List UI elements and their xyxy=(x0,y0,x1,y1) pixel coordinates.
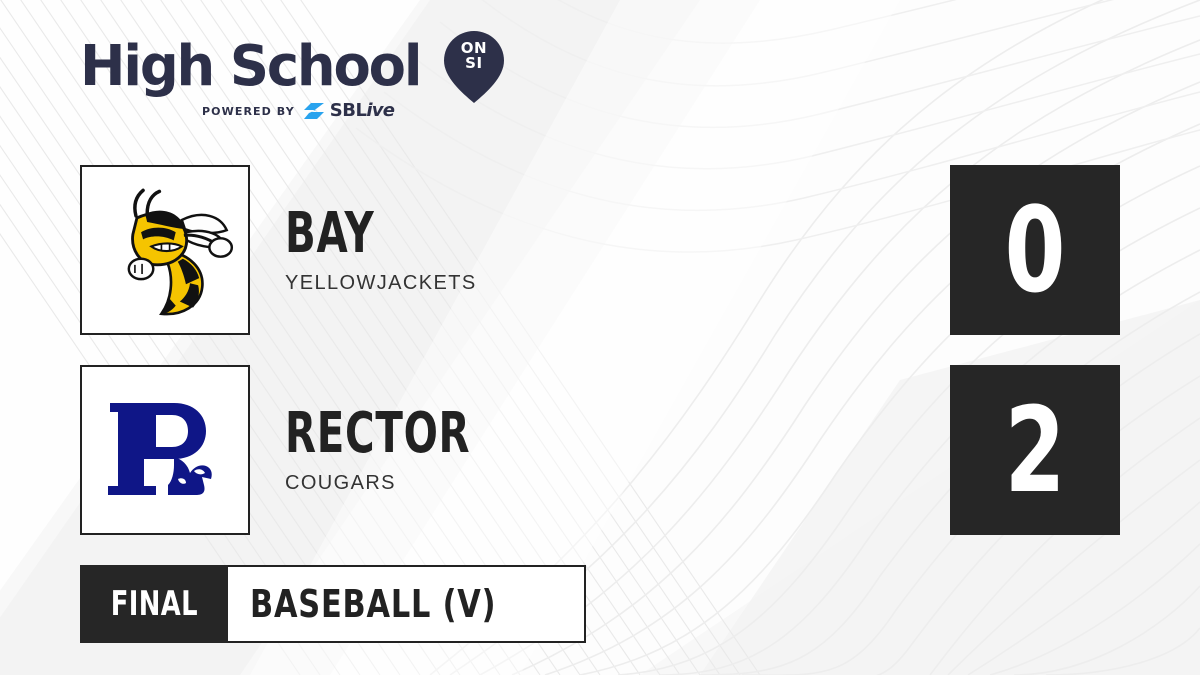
game-status-bar: FINAL BASEBALL (V) xyxy=(80,565,586,643)
team-score: 0 xyxy=(1005,191,1066,309)
team-row: BAY YELLOWJACKETS 0 xyxy=(80,165,1120,335)
sblive-bolt-icon xyxy=(303,102,325,120)
team-info-rector: RECTOR COUGARS xyxy=(285,365,542,535)
team-score-box: 0 xyxy=(950,165,1120,335)
logo-main-row: High School ON SI xyxy=(80,34,510,100)
team-name: RECTOR xyxy=(285,406,470,462)
sblive-main: SBL xyxy=(330,100,367,121)
powered-by-label: POWERED BY xyxy=(202,105,295,118)
logo-wordmark: High School xyxy=(80,38,420,96)
status-badge: FINAL xyxy=(80,565,228,643)
team-mascot: COUGARS xyxy=(285,472,542,495)
sblive-italic: ive xyxy=(366,100,394,121)
site-logo[interactable]: High School ON SI POWERED BY SBLive xyxy=(80,34,510,134)
team-mascot: YELLOWJACKETS xyxy=(285,272,477,295)
on-si-pin-icon: ON SI xyxy=(443,30,505,104)
pin-line-si: SI xyxy=(443,56,505,71)
team-score-box: 2 xyxy=(950,365,1120,535)
status-badge-label: FINAL xyxy=(110,584,197,624)
team-logo-card-bay[interactable] xyxy=(80,165,250,335)
sblive-wordmark: SBLive xyxy=(330,102,394,120)
on-si-pin-label: ON SI xyxy=(443,41,505,70)
powered-by-row: POWERED BY SBLive xyxy=(80,102,510,120)
yellowjacket-mascot-icon xyxy=(82,167,248,333)
team-logo-card-rector[interactable] xyxy=(80,365,250,535)
sport-label-box: BASEBALL (V) xyxy=(228,565,586,643)
team-score: 2 xyxy=(1005,391,1066,509)
rector-r-cougar-icon xyxy=(82,367,248,533)
sport-label: BASEBALL (V) xyxy=(250,582,496,626)
team-name: BAY xyxy=(285,206,423,262)
team-info-bay: BAY YELLOWJACKETS xyxy=(285,165,477,335)
team-row: RECTOR COUGARS 2 xyxy=(80,365,1120,535)
